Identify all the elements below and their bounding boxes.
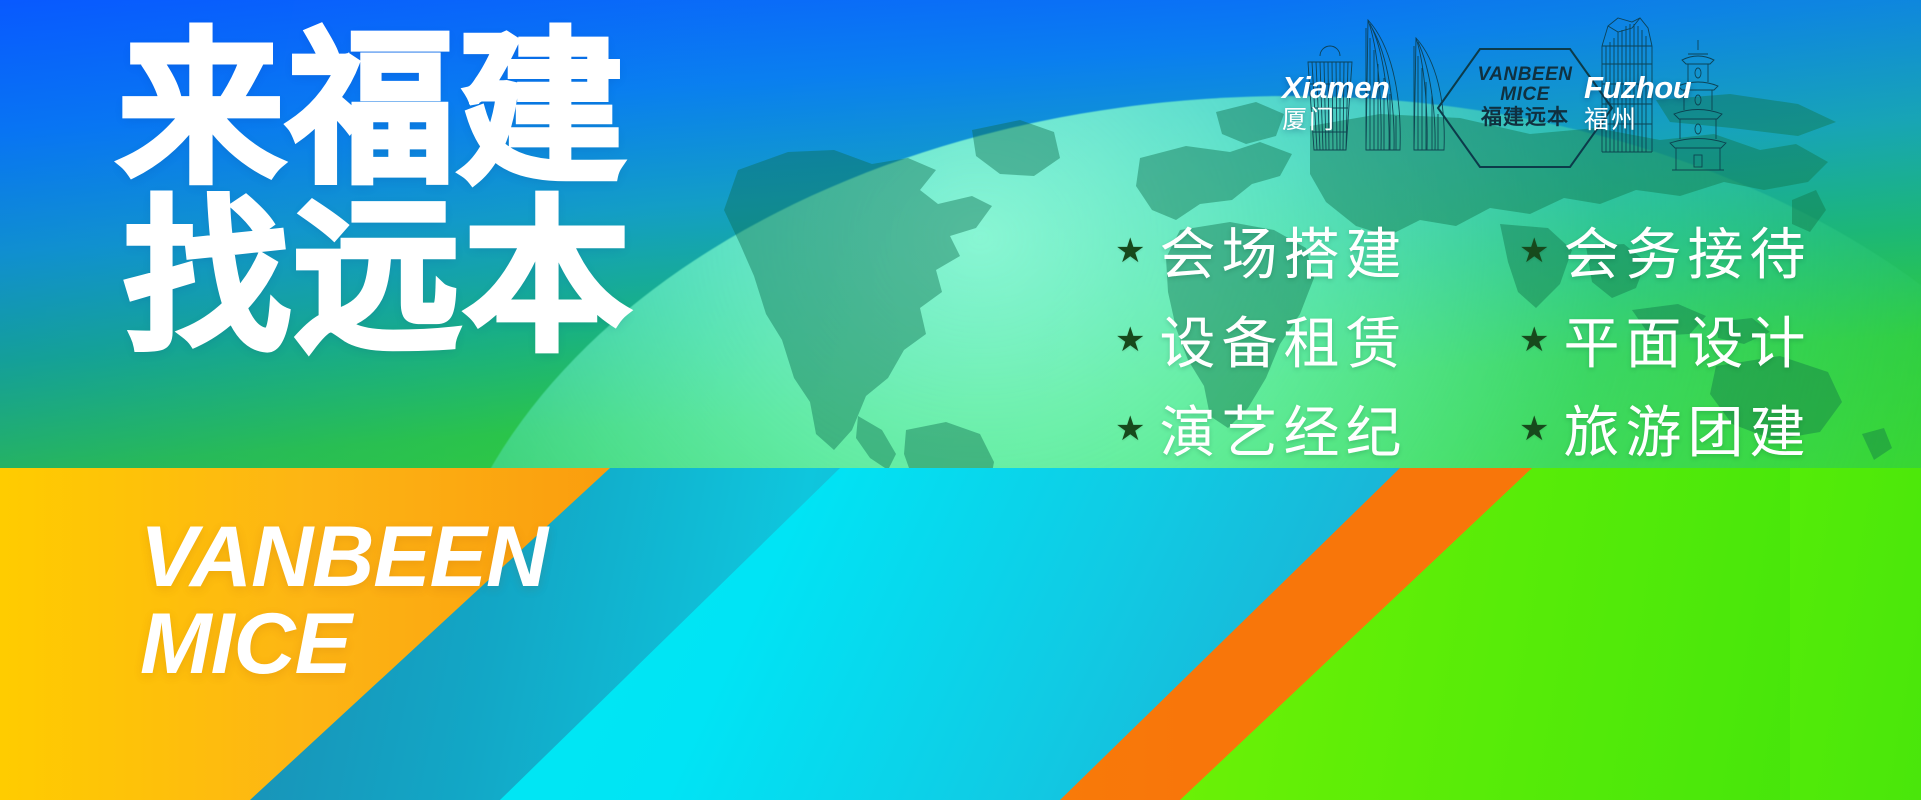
city-name-en: Xiamen: [1282, 72, 1389, 103]
star-icon: ★: [1115, 323, 1145, 357]
headline: 来福建 找远本: [118, 34, 738, 357]
service-item-5[interactable]: ★ 旅游团建: [1519, 388, 1905, 468]
brand-line-1: VANBEEN: [140, 516, 547, 599]
service-item-1[interactable]: ★ 会务接待: [1519, 210, 1905, 291]
service-label: 会场搭建: [1159, 210, 1407, 291]
city-name-cn: 厦门: [1282, 106, 1389, 134]
service-label: 平面设计: [1563, 299, 1811, 380]
star-icon: ★: [1519, 323, 1549, 357]
star-icon: ★: [1519, 234, 1549, 268]
city-landmark-cluster: VANBEEN MICE 福建远本 Xiamen 厦门 Fuzhou 福州: [1296, 0, 1766, 176]
service-label: 旅游团建: [1563, 388, 1811, 468]
brand-wordmark: VANBEEN MICE: [140, 516, 547, 687]
service-item-3[interactable]: ★ 平面设计: [1519, 299, 1905, 380]
city-label-fuzhou: Fuzhou 福州: [1584, 72, 1691, 134]
headline-line-1: 来福建: [118, 34, 738, 188]
brand-line-2: MICE: [140, 603, 547, 686]
star-icon: ★: [1115, 234, 1145, 268]
city-label-xiamen: Xiamen 厦门: [1282, 72, 1389, 134]
headline-line-2: 找远本: [124, 202, 738, 356]
service-item-4[interactable]: ★ 演艺经纪: [1115, 388, 1501, 468]
banner-top-section: 来福建 找远本 ★ 会场搭建 ★ 会务接待 ★ 设备租赁 ★ 平面设计 ★: [0, 0, 1921, 468]
service-label: 演艺经纪: [1159, 388, 1407, 468]
city-name-en: Fuzhou: [1584, 72, 1691, 103]
star-icon: ★: [1519, 412, 1549, 446]
diagonal-stripe-green-edge: [1790, 468, 1921, 800]
service-item-0[interactable]: ★ 会场搭建: [1115, 210, 1501, 291]
service-label: 设备租赁: [1159, 299, 1407, 380]
service-list: ★ 会场搭建 ★ 会务接待 ★ 设备租赁 ★ 平面设计 ★ 演艺经纪 ★ 旅游团…: [1115, 210, 1905, 468]
banner-bottom-band: VANBEEN MICE: [0, 468, 1921, 800]
service-item-2[interactable]: ★ 设备租赁: [1115, 299, 1501, 380]
service-label: 会务接待: [1563, 210, 1811, 291]
city-name-cn: 福州: [1584, 106, 1691, 134]
promotional-banner: 来福建 找远本 ★ 会场搭建 ★ 会务接待 ★ 设备租赁 ★ 平面设计 ★: [0, 0, 1921, 800]
star-icon: ★: [1115, 412, 1145, 446]
